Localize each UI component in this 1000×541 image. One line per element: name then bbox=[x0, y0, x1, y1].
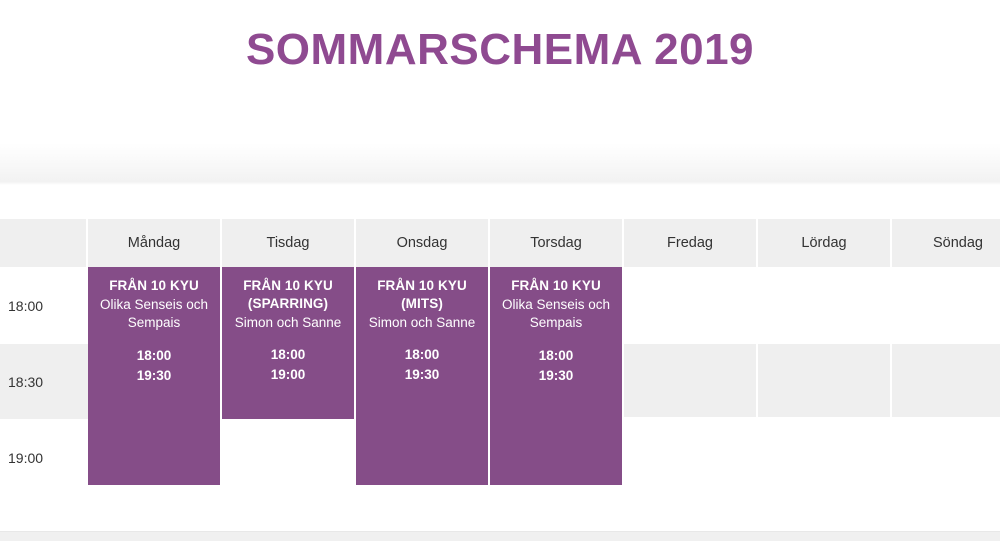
event-start-time: 18:00 bbox=[94, 346, 214, 366]
schedule-corner-cell bbox=[0, 219, 88, 267]
day-header-label: Måndag bbox=[128, 235, 180, 251]
page-title: SOMMARSCHEMA 2019 bbox=[246, 25, 754, 75]
event-end-time: 19:00 bbox=[228, 365, 348, 385]
event-block-onsdag[interactable]: FRÅN 10 KYU(MITS)Simon och Sanne18:0019:… bbox=[356, 267, 490, 485]
event-instructors: Simon och Sanne bbox=[228, 314, 348, 333]
event-times: 18:0019:30 bbox=[496, 346, 616, 385]
event-title: FRÅN 10 KYU bbox=[496, 277, 616, 295]
bottom-band bbox=[0, 531, 1000, 541]
event-instructors: Olika Senseis och Sempais bbox=[94, 296, 214, 333]
schedule-cell[interactable] bbox=[758, 419, 892, 496]
schedule-cell[interactable] bbox=[892, 267, 1000, 344]
schedule-cell[interactable] bbox=[892, 344, 1000, 419]
day-header-label: Torsdag bbox=[530, 235, 582, 251]
day-header-onsdag[interactable]: Onsdag bbox=[356, 219, 490, 267]
event-title-secondary: (MITS) bbox=[362, 295, 482, 313]
day-header-label: Söndag bbox=[933, 235, 983, 251]
event-start-time: 18:00 bbox=[228, 345, 348, 365]
event-block-torsdag[interactable]: FRÅN 10 KYUOlika Senseis och Sempais18:0… bbox=[490, 267, 624, 485]
time-label-1800: 18:00 bbox=[0, 267, 88, 344]
time-label-1900: 19:00 bbox=[0, 419, 88, 496]
schedule-cell[interactable] bbox=[758, 344, 892, 419]
time-label-1830: 18:30 bbox=[0, 344, 88, 419]
event-start-time: 18:00 bbox=[362, 345, 482, 365]
schedule-header-row: MåndagTisdagOnsdagTorsdagFredagLördagSön… bbox=[0, 219, 1000, 267]
day-header-label: Lördag bbox=[801, 235, 846, 251]
event-start-time: 18:00 bbox=[496, 346, 616, 366]
schedule-cell[interactable] bbox=[222, 419, 356, 496]
event-instructors: Simon och Sanne bbox=[362, 314, 482, 333]
day-header-tisdag[interactable]: Tisdag bbox=[222, 219, 356, 267]
event-title-secondary: (SPARRING) bbox=[228, 295, 348, 313]
decorative-gradient-band bbox=[0, 143, 1000, 185]
day-header-lördag[interactable]: Lördag bbox=[758, 219, 892, 267]
day-header-torsdag[interactable]: Torsdag bbox=[490, 219, 624, 267]
page-header: SOMMARSCHEMA 2019 bbox=[0, 0, 1000, 100]
schedule-cell[interactable] bbox=[758, 267, 892, 344]
event-block-tisdag[interactable]: FRÅN 10 KYU(SPARRING)Simon och Sanne18:0… bbox=[222, 267, 356, 419]
day-header-söndag[interactable]: Söndag bbox=[892, 219, 1000, 267]
weekly-schedule-table: MåndagTisdagOnsdagTorsdagFredagLördagSön… bbox=[0, 219, 1000, 496]
event-title: FRÅN 10 KYU bbox=[94, 277, 214, 295]
schedule-page: SOMMARSCHEMA 2019 MåndagTisdagOnsdagTors… bbox=[0, 0, 1000, 541]
event-times: 18:0019:00 bbox=[228, 345, 348, 384]
day-header-fredag[interactable]: Fredag bbox=[624, 219, 758, 267]
event-title: FRÅN 10 KYU bbox=[362, 277, 482, 295]
day-header-label: Tisdag bbox=[267, 235, 310, 251]
schedule-cell[interactable] bbox=[624, 419, 758, 496]
event-title: FRÅN 10 KYU bbox=[228, 277, 348, 295]
event-times: 18:0019:30 bbox=[94, 346, 214, 385]
event-instructors: Olika Senseis och Sempais bbox=[496, 296, 616, 333]
day-header-måndag[interactable]: Måndag bbox=[88, 219, 222, 267]
event-end-time: 19:30 bbox=[94, 366, 214, 386]
schedule-cell[interactable] bbox=[624, 344, 758, 419]
schedule-cell[interactable] bbox=[892, 419, 1000, 496]
schedule-cell[interactable] bbox=[624, 267, 758, 344]
day-header-label: Fredag bbox=[667, 235, 713, 251]
day-header-label: Onsdag bbox=[397, 235, 448, 251]
event-end-time: 19:30 bbox=[362, 365, 482, 385]
event-times: 18:0019:30 bbox=[362, 345, 482, 384]
event-end-time: 19:30 bbox=[496, 366, 616, 386]
event-block-måndag[interactable]: FRÅN 10 KYUOlika Senseis och Sempais18:0… bbox=[88, 267, 222, 485]
